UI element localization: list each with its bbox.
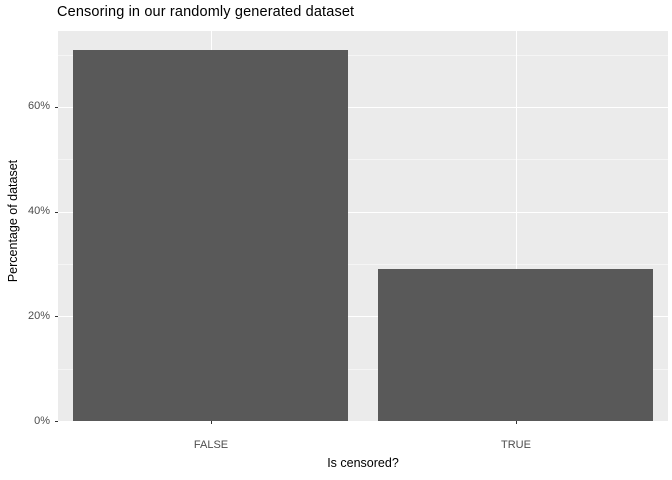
- x-tick-label-false: FALSE: [194, 440, 228, 451]
- x-tick-label-true: TRUE: [501, 440, 531, 451]
- y-tick-mark-60: [55, 107, 58, 108]
- bar-true: [378, 269, 653, 421]
- x-tick-mark-false: [211, 421, 212, 424]
- bar-false: [73, 50, 348, 421]
- x-axis-title: Is censored?: [58, 456, 668, 470]
- y-axis-title: Percentage of dataset: [5, 26, 21, 416]
- y-tick-label-0: 0%: [6, 416, 50, 427]
- plot-panel: [58, 31, 668, 421]
- chart-figure: Censoring in our randomly generated data…: [0, 0, 672, 480]
- y-tick-mark-40: [55, 212, 58, 213]
- y-tick-mark-20: [55, 316, 58, 317]
- x-tick-mark-true: [516, 421, 517, 424]
- page-title: Censoring in our randomly generated data…: [57, 4, 354, 20]
- y-tick-mark-0: [55, 421, 58, 422]
